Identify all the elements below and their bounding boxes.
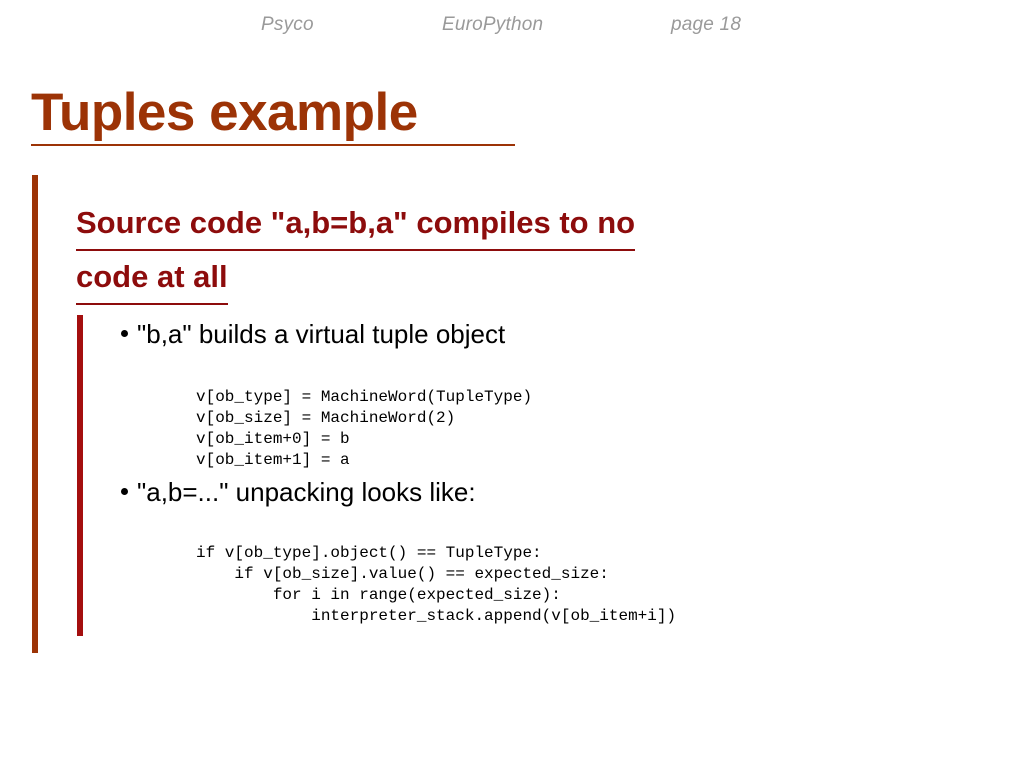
- slide-title-underline: [31, 144, 515, 146]
- subtitle-line-1: Source code "a,b=b,a" compiles to no: [76, 197, 635, 251]
- header-project-name: Psyco: [261, 14, 314, 36]
- slide-title: Tuples example: [31, 82, 418, 144]
- code-block-1: v[ob_type] = MachineWord(TupleType) v[ob…: [196, 387, 532, 471]
- bullet-label-1: "b,a" builds a virtual tuple object: [137, 319, 505, 349]
- bullet-dot-icon: [121, 330, 128, 337]
- bullet-dot-icon: [121, 488, 128, 495]
- outer-accent-bar: [32, 175, 38, 653]
- slide-canvas: Psyco EuroPython page 18 Tuples example …: [0, 0, 1024, 768]
- header-conference-name: EuroPython: [442, 14, 543, 36]
- slide-header: Psyco EuroPython page 18: [0, 14, 1024, 42]
- slide-subtitle: Source code "a,b=b,a" compiles to no cod…: [76, 197, 876, 305]
- bullet-item-1: "b,a" builds a virtual tuple object: [121, 319, 505, 349]
- code-block-2: if v[ob_type].object() == TupleType: if …: [196, 543, 676, 627]
- subtitle-line-2: code at all: [76, 251, 228, 305]
- bullet-item-2: "a,b=..." unpacking looks like:: [121, 477, 476, 507]
- bullet-label-2: "a,b=..." unpacking looks like:: [137, 477, 476, 507]
- inner-accent-bar: [77, 315, 83, 636]
- header-page-number: page 18: [671, 14, 741, 36]
